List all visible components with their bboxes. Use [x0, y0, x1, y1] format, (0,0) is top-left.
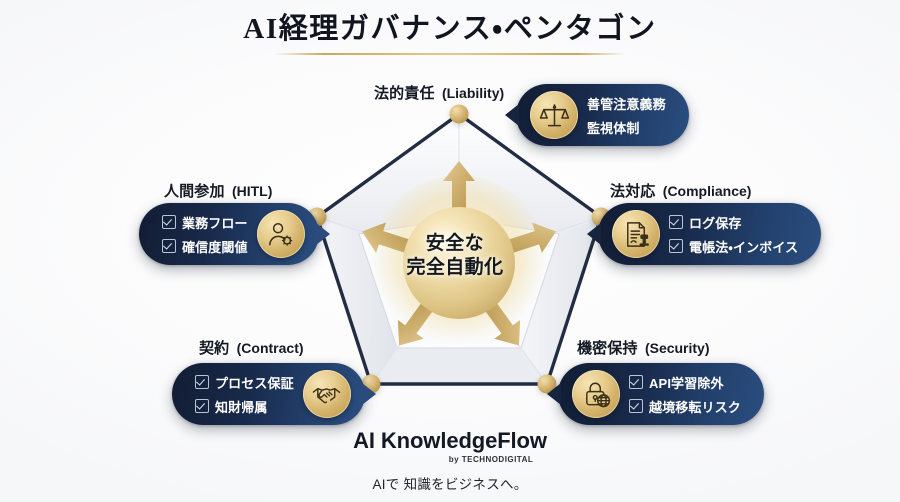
node-pill-security[interactable]: API学習除外 越境移転リスク	[558, 363, 764, 425]
list-item: 業務フロー	[162, 213, 248, 232]
pill-tail	[316, 223, 330, 245]
node-title-ja: 法的責任	[374, 85, 435, 102]
brand-byline: by TECHNODIGITAL	[82, 455, 900, 464]
infographic-canvas: AI経理ガバナンス・ペンタゴン	[0, 0, 900, 502]
list-item: 確信度閾値	[162, 237, 248, 256]
checkbox-icon	[629, 399, 643, 413]
node-title-liability: 法的責任 (Liability)	[374, 82, 504, 103]
node-title-compliance: 法対応 (Compliance)	[610, 180, 751, 201]
node-title-contract: 契約 (Contract)	[199, 337, 304, 358]
list-item: 知財帰属	[195, 397, 294, 416]
pill-tail	[362, 383, 376, 405]
node-title-security: 機密保持 (Security)	[577, 337, 710, 358]
handshake-icon	[303, 370, 351, 418]
checkbox-icon	[629, 375, 643, 389]
pill-items: API学習除外 越境移転リスク	[620, 373, 750, 416]
checkbox-icon	[162, 239, 176, 253]
list-item: プロセス保証	[195, 373, 294, 392]
node-title-en: (Compliance)	[663, 183, 752, 199]
pill-tail	[587, 223, 601, 245]
node-pill-contract[interactable]: プロセス保証 知財帰属	[172, 363, 365, 425]
vertex-liability	[450, 105, 469, 124]
pill-tail	[547, 383, 561, 405]
brand-tagline: AIで 知識をビジネスへ。	[0, 473, 900, 493]
pill-items: 善管注意義務 監視体制	[578, 94, 675, 137]
list-item: ログ保存	[669, 213, 798, 232]
checkbox-icon	[195, 399, 209, 413]
document-stamp-icon	[612, 210, 660, 258]
node-pill-liability[interactable]: 善管注意義務 監視体制	[516, 84, 689, 146]
brand-name: AI KnowledgeFlow	[0, 428, 900, 454]
pill-items: プロセス保証 知財帰属	[186, 373, 303, 416]
checkbox-icon	[669, 239, 683, 253]
node-title-en: (Contract)	[237, 340, 304, 356]
node-title-ja: 機密保持	[577, 340, 638, 357]
node-pill-compliance[interactable]: ログ保存 電帳法・インボイス	[598, 203, 821, 265]
pill-items: ログ保存 電帳法・インボイス	[660, 213, 807, 256]
node-title-en: (Liability)	[442, 85, 504, 101]
list-item: 電帳法・インボイス	[669, 237, 798, 256]
node-title-ja: 法対応	[610, 183, 655, 200]
checkbox-icon	[195, 375, 209, 389]
pill-items: 業務フロー 確信度閾値	[153, 213, 257, 256]
node-pill-hitl[interactable]: 業務フロー 確信度閾値	[139, 203, 319, 265]
node-title-ja: 契約	[199, 340, 229, 357]
list-item: 越境移転リスク	[629, 397, 741, 416]
person-gear-icon	[257, 210, 305, 258]
node-title-en: (Security)	[645, 340, 710, 356]
scales-icon	[530, 91, 578, 139]
list-item: API学習除外	[629, 373, 741, 392]
footer-block: AI KnowledgeFlow by TECHNODIGITAL AIで 知識…	[0, 428, 900, 493]
checkbox-icon	[669, 215, 683, 229]
list-item: 監視体制	[587, 118, 666, 137]
checkbox-icon	[162, 215, 176, 229]
core-sphere	[403, 207, 515, 319]
lock-globe-icon	[572, 370, 620, 418]
node-title-hitl: 人間参加 (HITL)	[164, 180, 272, 201]
pill-tail	[505, 104, 519, 126]
node-title-ja: 人間参加	[164, 183, 225, 200]
node-title-en: (HITL)	[232, 183, 272, 199]
list-item: 善管注意義務	[587, 94, 666, 113]
